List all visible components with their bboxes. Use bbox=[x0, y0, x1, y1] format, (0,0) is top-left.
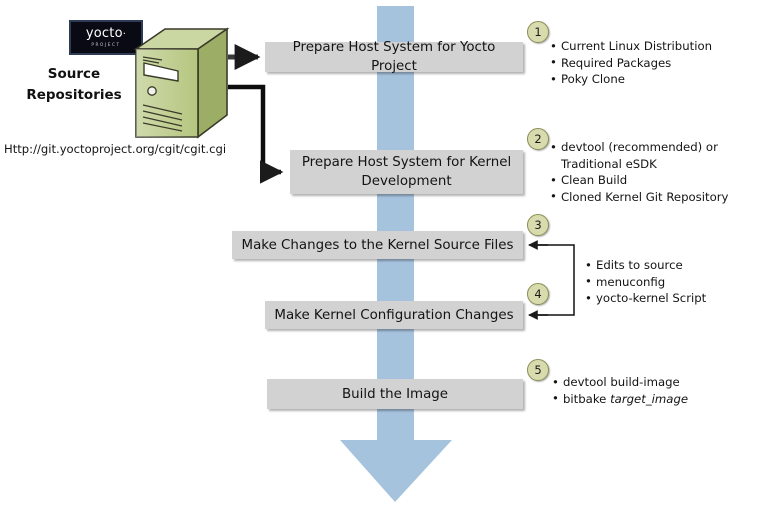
process-box-step-2[interactable]: Prepare Host System for Kernel Developme… bbox=[290, 150, 523, 194]
source-repository-url: Http://git.yoctoproject.org/cgit/cgit.cg… bbox=[4, 142, 226, 156]
server-tower-icon bbox=[132, 27, 230, 142]
list-item: Edits to source bbox=[585, 257, 706, 274]
logo-subtitle: PROJECT bbox=[91, 42, 120, 48]
step-badge-2: 2 bbox=[527, 128, 549, 150]
process-box-step-4[interactable]: Make Kernel Configuration Changes bbox=[265, 301, 523, 329]
process-box-step-5[interactable]: Build the Image bbox=[267, 379, 523, 409]
logo-wordmark: yocto· bbox=[86, 27, 126, 41]
source-label-line1: Source bbox=[10, 64, 138, 85]
step-badge-4: 4 bbox=[527, 283, 549, 305]
step-badge-1: 1 bbox=[527, 21, 549, 43]
process-box-step-1[interactable]: Prepare Host System for Yocto Project bbox=[265, 42, 523, 72]
diagram-canvas: yocto· PROJECT Source Repositories bbox=[0, 0, 769, 517]
italic-token: target_image bbox=[610, 392, 688, 406]
list-item: bitbake target_image bbox=[552, 391, 688, 408]
connector-server-to-step2 bbox=[228, 87, 281, 172]
list-item: Poky Clone bbox=[550, 71, 712, 88]
logo-dot: · bbox=[123, 29, 126, 40]
step-badge-5: 5 bbox=[527, 359, 549, 381]
bullet-list-step-1: Current Linux Distribution Required Pack… bbox=[550, 38, 712, 88]
bullet-list-step-5: devtool build-image bitbake target_image bbox=[552, 374, 688, 407]
list-item: yocto-kernel Script bbox=[585, 290, 706, 307]
list-item: Required Packages bbox=[550, 55, 712, 72]
list-item: menuconfig bbox=[585, 274, 706, 291]
list-item: Current Linux Distribution bbox=[550, 38, 712, 55]
process-box-step-3[interactable]: Make Changes to the Kernel Source Files bbox=[232, 231, 523, 259]
step-badge-3: 3 bbox=[527, 214, 549, 236]
bullet-list-steps-3-4: Edits to source menuconfig yocto-kernel … bbox=[585, 257, 706, 307]
bullet-list-step-2: devtool (recommended) or Traditional eSD… bbox=[550, 139, 750, 205]
list-item: devtool build-image bbox=[552, 374, 688, 391]
list-item: devtool (recommended) or Traditional eSD… bbox=[550, 139, 750, 172]
source-repositories-label: Source Repositories bbox=[10, 64, 138, 106]
list-item: Cloned Kernel Git Repository bbox=[550, 189, 750, 206]
source-label-line2: Repositories bbox=[10, 85, 138, 106]
list-item: Clean Build bbox=[550, 172, 750, 189]
